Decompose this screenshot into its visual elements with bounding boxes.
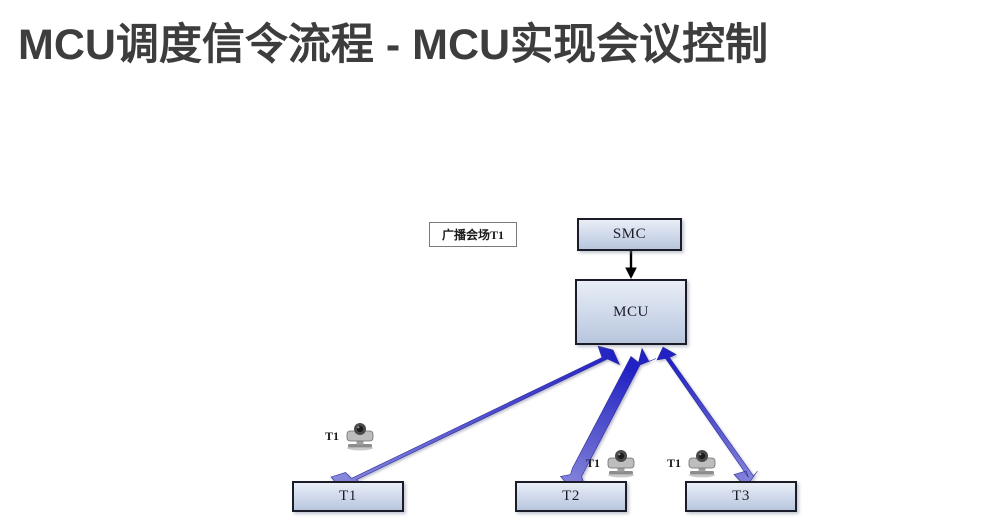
connector-smc-to-mcu: [625, 251, 637, 279]
node-terminal-t2[interactable]: T2: [515, 481, 627, 512]
camera-group-right: T1: [667, 448, 719, 478]
connector-mcu-to-t1: [331, 346, 620, 491]
camera-group-left: T1: [325, 421, 377, 451]
video-camera-icon: [343, 421, 377, 451]
topology-diagram: SMC MCU T1 T2 T3 广播会场T1 T1 T1: [0, 0, 1000, 532]
video-camera-icon: [604, 448, 638, 478]
camera-label-left: T1: [325, 429, 339, 444]
broadcast-venue-label: 广播会场T1: [429, 222, 517, 247]
slide-canvas: MCU调度信令流程 - MCU实现会议控制: [0, 0, 1000, 532]
node-terminal-t3[interactable]: T3: [685, 481, 797, 512]
video-camera-icon: [685, 448, 719, 478]
node-terminal-t1[interactable]: T1: [292, 481, 404, 512]
node-mcu[interactable]: MCU: [575, 279, 687, 345]
camera-group-middle: T1: [586, 448, 638, 478]
node-smc[interactable]: SMC: [577, 218, 682, 251]
camera-label-right: T1: [667, 456, 681, 471]
camera-label-middle: T1: [586, 456, 600, 471]
connector-layer: [0, 0, 1000, 532]
